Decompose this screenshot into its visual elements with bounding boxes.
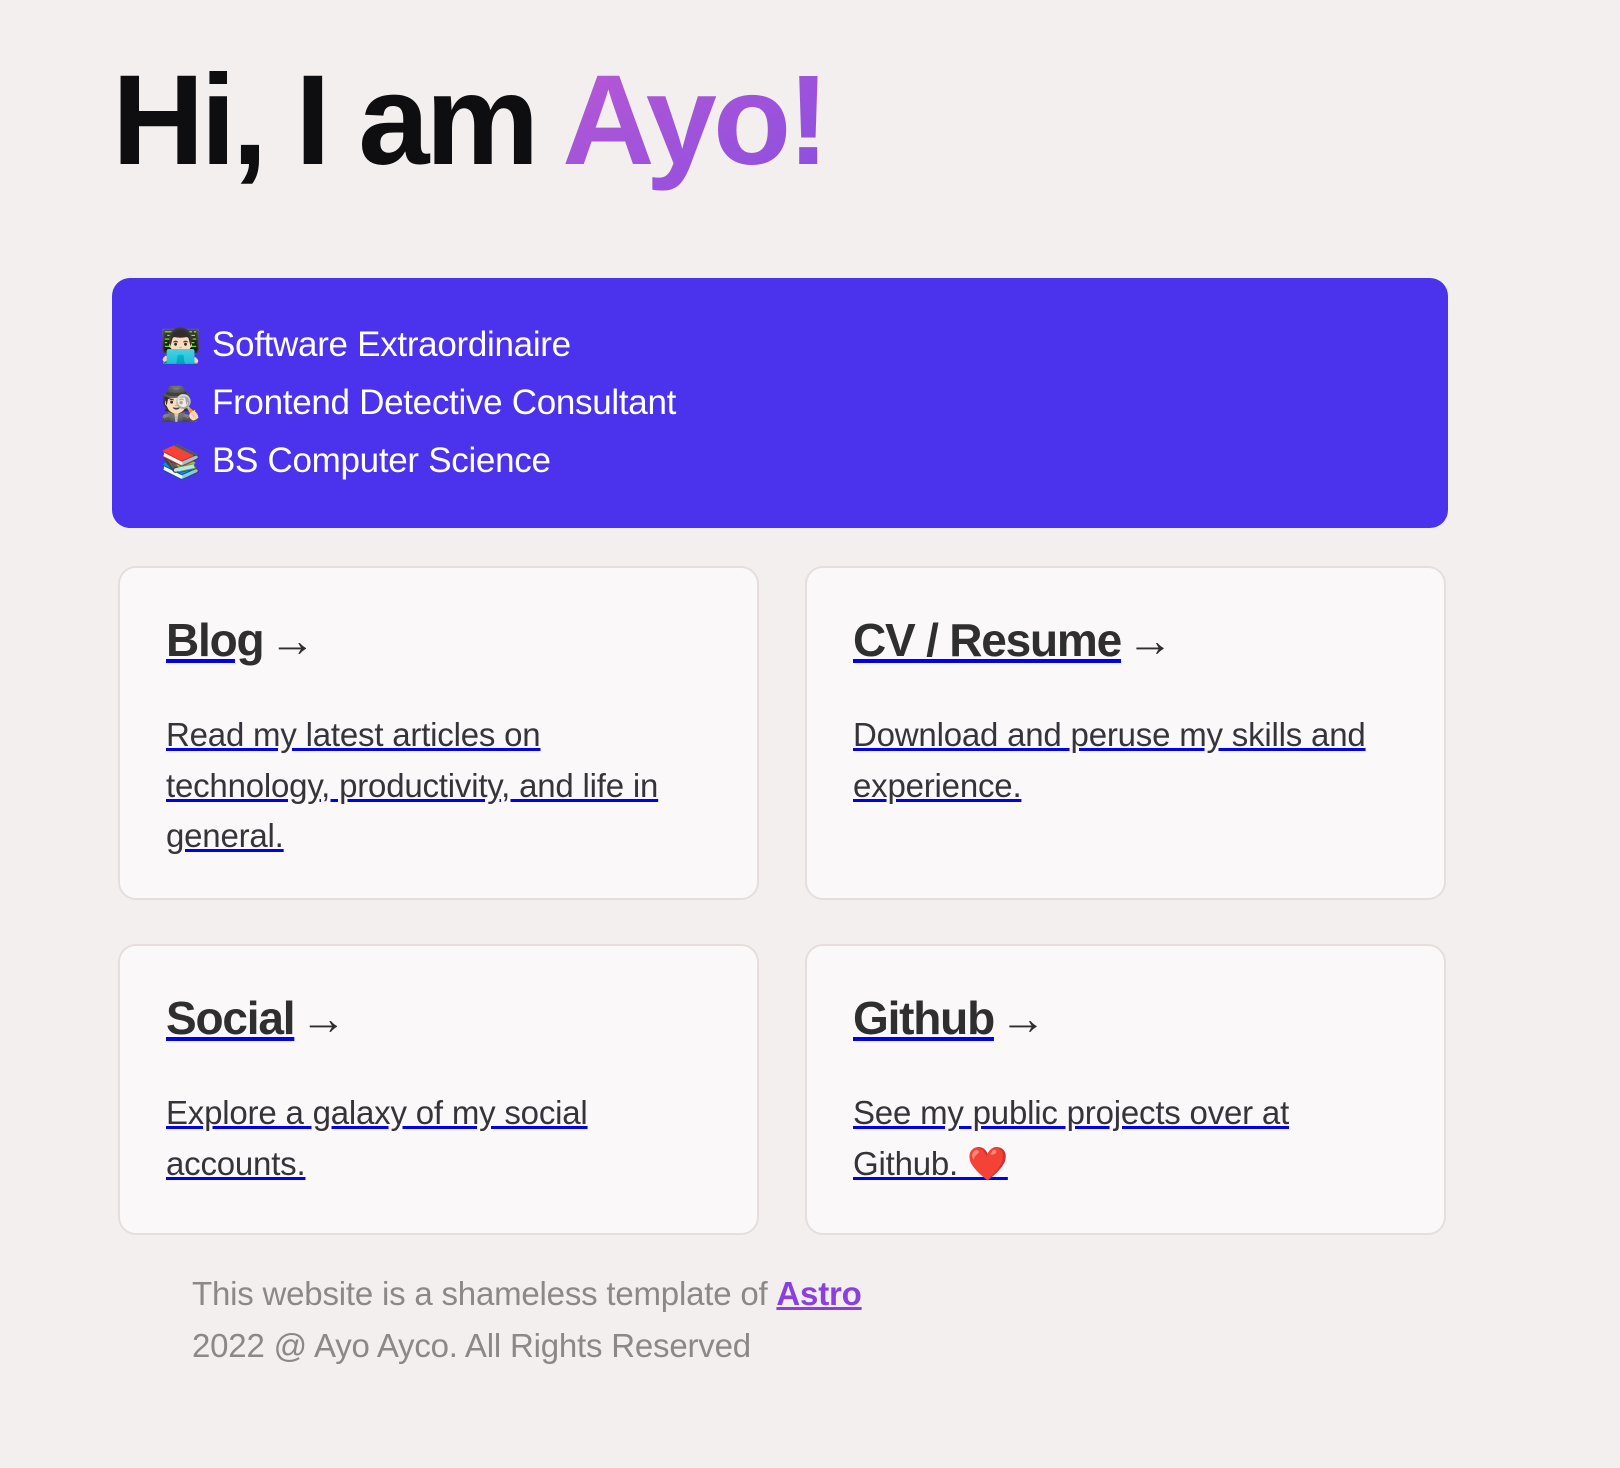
card-description: Download and peruse my skills and experi… xyxy=(853,710,1398,811)
card-title: Blog→ xyxy=(166,616,711,664)
arrow-right-icon: → xyxy=(300,994,345,1042)
arrow-right-icon: → xyxy=(1000,994,1045,1042)
card-social[interactable]: Social→ Explore a galaxy of my social ac… xyxy=(118,944,759,1235)
card-blog[interactable]: Blog→ Read my latest articles on technol… xyxy=(118,566,759,900)
technologist-emoji: 👨🏻‍💻 xyxy=(160,329,212,362)
portfolio-landing-page: Hi, I am Ayo! 👨🏻‍💻 Software Extraordinai… xyxy=(0,0,1620,1468)
footer-copyright: 2022 @ Ayo Ayco. All Rights Reserved xyxy=(192,1320,1392,1372)
info-row: 📚 BS Computer Science xyxy=(160,432,1448,490)
info-row-label: BS Computer Science xyxy=(212,441,551,481)
intro-info-panel: 👨🏻‍💻 Software Extraordinaire 🕵🏻 Frontend… xyxy=(112,278,1448,528)
arrow-right-icon: → xyxy=(269,616,314,664)
card-title-text: CV / Resume xyxy=(853,614,1121,666)
hero-name: Ayo! xyxy=(562,49,826,192)
astro-link[interactable]: Astro xyxy=(776,1275,861,1312)
link-card-grid: Blog→ Read my latest articles on technol… xyxy=(118,566,1448,1235)
card-github[interactable]: Github→ See my public projects over at G… xyxy=(805,944,1446,1235)
hero-section: Hi, I am Ayo! xyxy=(112,52,1512,190)
card-description: Explore a galaxy of my social accounts. xyxy=(166,1088,711,1189)
card-description: Read my latest articles on technology, p… xyxy=(166,710,711,861)
page-title: Hi, I am Ayo! xyxy=(112,52,1512,190)
info-row-label: Software Extraordinaire xyxy=(212,325,571,365)
info-row: 🕵🏻 Frontend Detective Consultant xyxy=(160,374,1448,432)
footer-credit-line: This website is a shameless template of … xyxy=(192,1268,1392,1320)
detective-emoji: 🕵🏻 xyxy=(160,387,212,420)
books-emoji: 📚 xyxy=(160,445,212,478)
card-title-text: Github xyxy=(853,992,994,1044)
card-description: See my public projects over at Github. ❤… xyxy=(853,1088,1398,1189)
site-footer: This website is a shameless template of … xyxy=(192,1268,1392,1372)
info-row: 👨🏻‍💻 Software Extraordinaire xyxy=(160,316,1448,374)
card-cv-resume[interactable]: CV / Resume→ Download and peruse my skil… xyxy=(805,566,1446,900)
info-row-label: Frontend Detective Consultant xyxy=(212,383,676,423)
hero-greeting: Hi, I am xyxy=(112,49,562,192)
card-title-text: Social xyxy=(166,992,294,1044)
card-title: Social→ xyxy=(166,994,711,1042)
card-title: CV / Resume→ xyxy=(853,616,1398,664)
arrow-right-icon: → xyxy=(1127,616,1172,664)
card-title: Github→ xyxy=(853,994,1398,1042)
footer-credit-text: This website is a shameless template of xyxy=(192,1275,776,1312)
card-title-text: Blog xyxy=(166,614,263,666)
